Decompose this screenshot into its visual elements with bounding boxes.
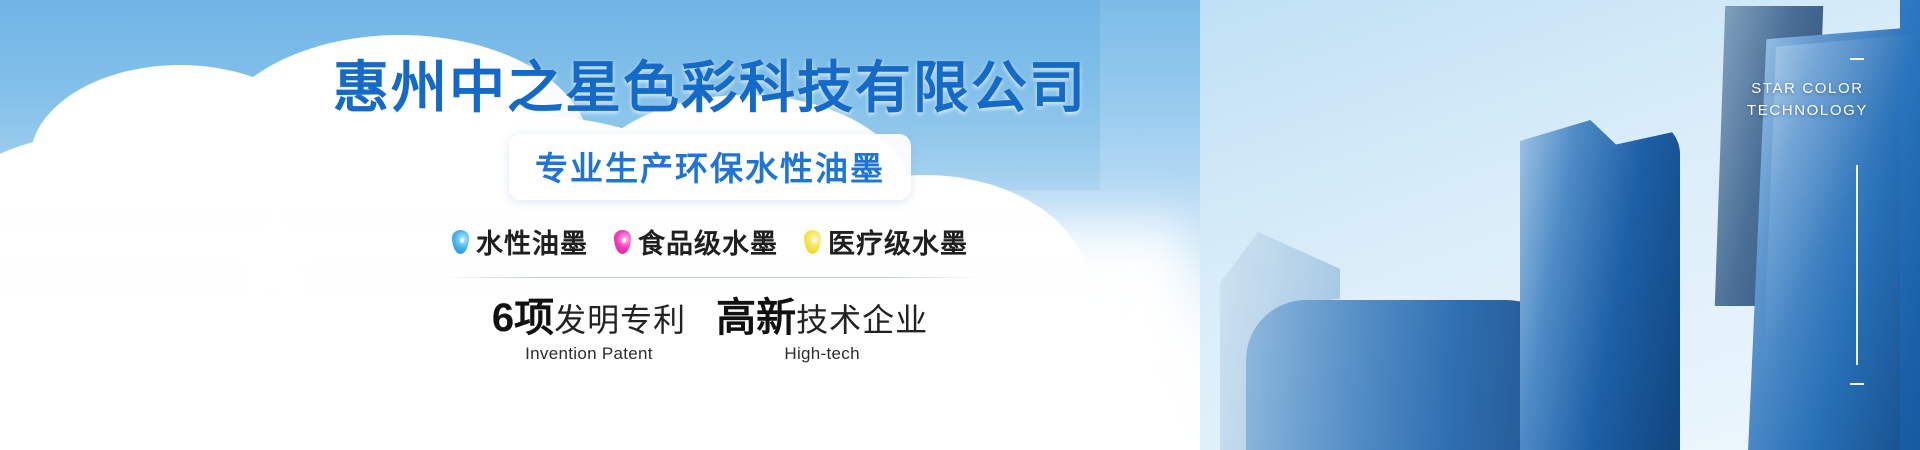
credential-badge-patent: 6项 发明专利 Invention Patent (492, 298, 686, 364)
section-divider (440, 277, 980, 278)
brand-mark-line1: STAR COLOR (1747, 78, 1868, 100)
badge-subtitle: Invention Patent (492, 344, 686, 364)
company-title: 惠州中之星色彩科技有限公司 (330, 58, 1090, 118)
company-hero-banner: Star Color STAR COLOR TECHNOLOGY 惠州中之星色彩… (0, 0, 1920, 450)
product-tag-label: 医疗级水墨 (828, 222, 968, 261)
brand-dash-bottom (1850, 383, 1864, 385)
badge-rest-text: 技术企业 (796, 304, 928, 336)
product-tag-food-grade: 食品级水墨 (614, 222, 778, 261)
badge-strong-text: 6项 (492, 298, 554, 338)
badge-headline: 高新 技术企业 (716, 298, 928, 338)
brand-dash-top (1850, 58, 1864, 60)
brand-vertical-rule (1856, 165, 1858, 365)
hero-content: 惠州中之星色彩科技有限公司 专业生产环保水性油墨 水性油墨 食品级水墨 医疗级水… (330, 0, 1090, 450)
badge-strong-text: 高新 (716, 298, 796, 338)
brand-mark-line2: TECHNOLOGY (1747, 100, 1868, 122)
building-round-tower (1520, 120, 1680, 450)
credential-badge-list: 6项 发明专利 Invention Patent 高新 技术企业 High-te… (330, 298, 1090, 364)
badge-headline: 6项 发明专利 (492, 298, 686, 338)
skyscraper-photo (1200, 0, 1920, 450)
badge-subtitle: High-tech (716, 344, 928, 364)
product-tag-water-ink: 水性油墨 (452, 222, 588, 261)
water-drop-icon (452, 230, 469, 254)
slogan-pill: 专业生产环保水性油墨 (509, 134, 911, 200)
product-tag-label: 水性油墨 (476, 222, 588, 261)
water-drop-icon (614, 230, 631, 254)
product-tag-list: 水性油墨 食品级水墨 医疗级水墨 (330, 222, 1090, 261)
slogan-pill-wrapper: 专业生产环保水性油墨 (330, 134, 1090, 200)
brand-mark: STAR COLOR TECHNOLOGY (1747, 78, 1868, 122)
water-drop-icon (804, 230, 821, 254)
product-tag-medical-grade: 医疗级水墨 (804, 222, 968, 261)
badge-rest-text: 发明专利 (554, 304, 686, 336)
credential-badge-hightech: 高新 技术企业 High-tech (716, 298, 928, 364)
product-tag-label: 食品级水墨 (638, 222, 778, 261)
